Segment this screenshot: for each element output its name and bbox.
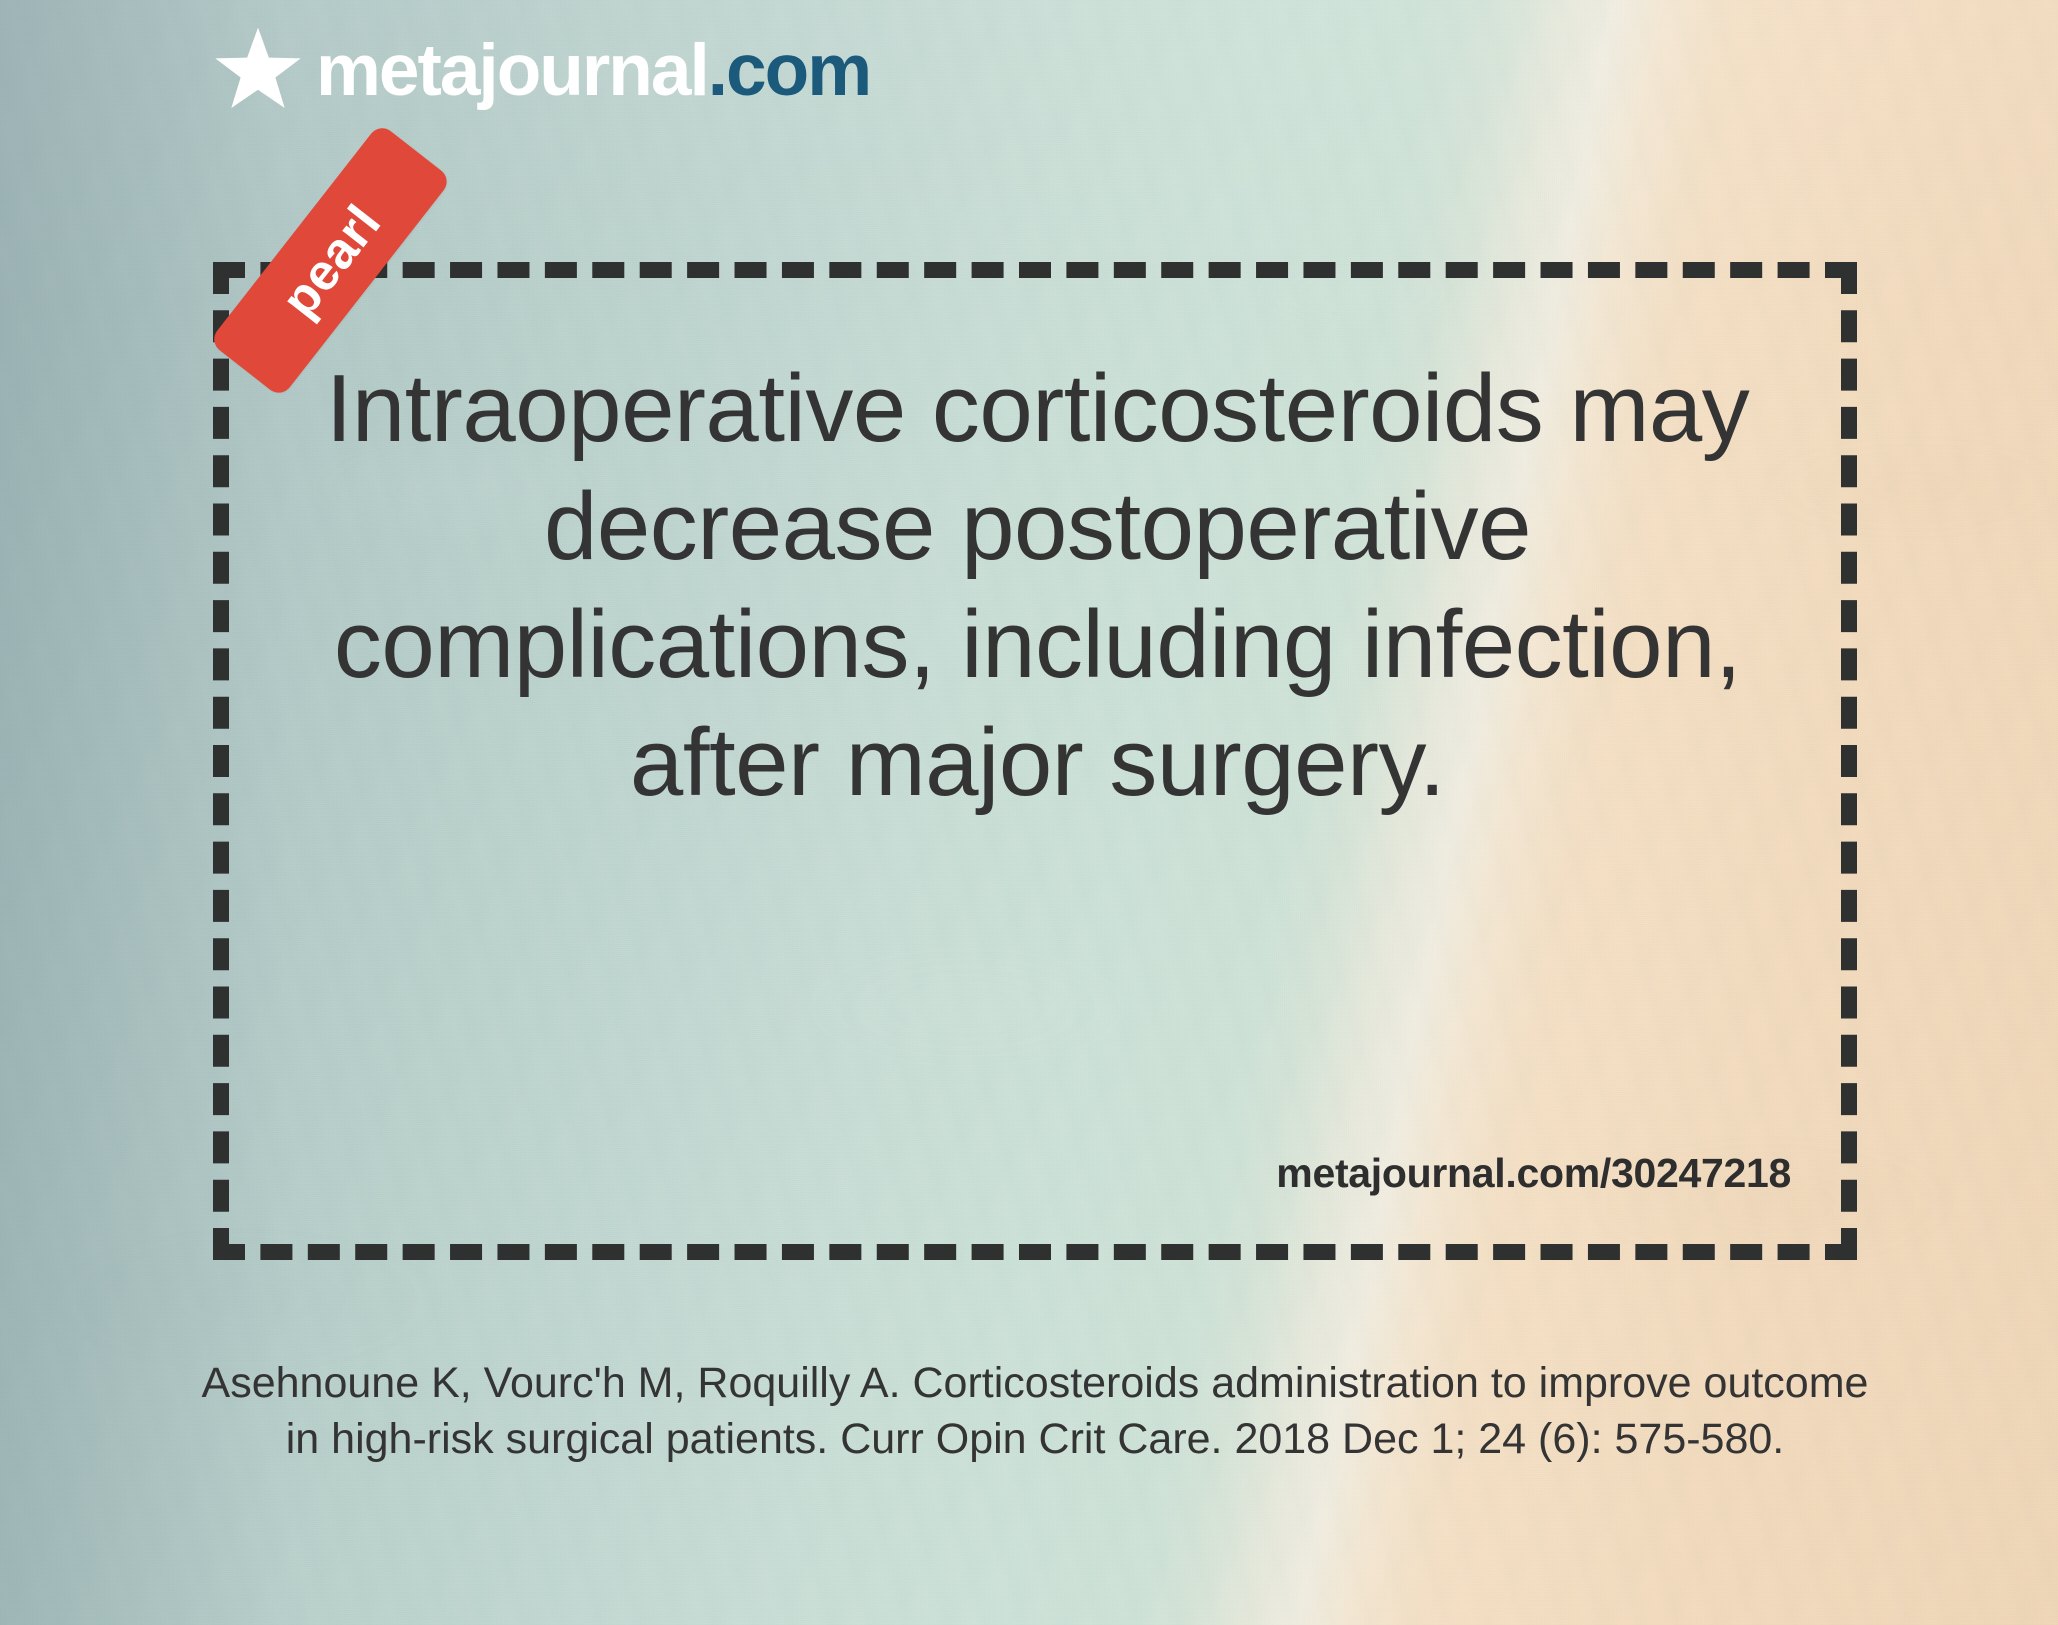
- logo-name: metajournal: [316, 30, 708, 111]
- pearl-permalink[interactable]: metajournal.com/30247218: [213, 1150, 1791, 1197]
- pearl-card: metajournal.com Intraoperative corticost…: [0, 0, 2058, 1625]
- star-icon: [212, 24, 304, 116]
- pearl-headline: Intraoperative corticosteroids may decre…: [265, 350, 1810, 822]
- citation-text: Asehnoune K, Vourc'h M, Roquilly A. Cort…: [195, 1355, 1875, 1467]
- logo-wordmark: metajournal.com: [316, 34, 870, 107]
- site-logo[interactable]: metajournal.com: [212, 24, 870, 116]
- logo-tld: .com: [708, 30, 870, 111]
